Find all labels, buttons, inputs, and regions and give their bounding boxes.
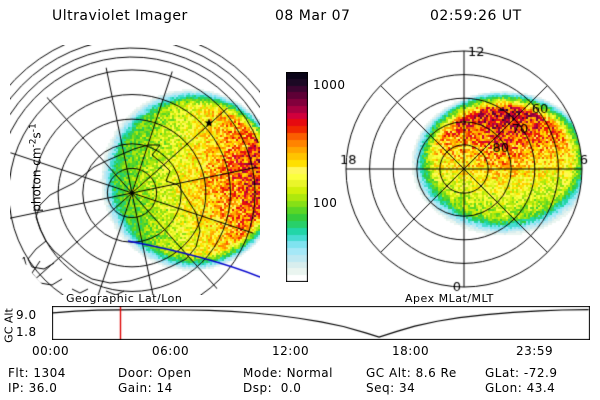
orbit-xtick-3: 18:00	[392, 344, 429, 358]
status-gain: Gain: 14	[118, 381, 173, 395]
orbit-xtick-1: 06:00	[152, 344, 189, 358]
status-glon-label: GLon:	[485, 381, 522, 395]
status-door-value: Open	[158, 366, 192, 380]
colorbar-unit-label: photon cm-2s-1	[29, 113, 44, 223]
colorbar-unit-exponent-1: -2	[29, 138, 39, 147]
status-gcalt-value: 8.6 Re	[416, 366, 457, 380]
status-gain-label: Gain:	[118, 381, 152, 395]
orbit-xtick-2: 12:00	[272, 344, 309, 358]
orbit-xtick-0: 00:00	[32, 344, 69, 358]
status-flt-label: Flt:	[8, 366, 29, 380]
status-mode: Mode: Normal	[243, 366, 333, 380]
status-mode-value: Normal	[287, 366, 333, 380]
colorbar-unit-prefix: photon cm	[30, 147, 44, 211]
colorbar-unit-exponent-2: -1	[29, 123, 39, 132]
status-glat-label: GLat:	[485, 366, 520, 380]
page-title: Ultraviolet Imager	[52, 8, 188, 24]
status-gcalt-label: GC Alt:	[366, 366, 411, 380]
status-mode-label: Mode:	[243, 366, 282, 380]
apex-aurora-plot	[338, 45, 590, 295]
geographic-aurora-plot	[10, 45, 260, 295]
status-ip: IP: 36.0	[8, 381, 57, 395]
status-glat: GLat: -72.9	[485, 366, 557, 380]
ultraviolet-imager-display: Ultraviolet Imager 08 Mar 07 02:59:26 UT…	[0, 0, 600, 400]
orbit-xtick-4: 23:59	[516, 344, 553, 358]
colorbar-tick-100: 100	[313, 196, 337, 210]
status-ip-label: IP:	[8, 381, 24, 395]
observation-date: 08 Mar 07	[275, 8, 350, 24]
orbit-altitude-plot	[52, 306, 590, 340]
status-flt-value: 1304	[33, 366, 66, 380]
status-flt: Flt: 1304	[8, 366, 66, 380]
status-seq: Seq: 34	[366, 381, 415, 395]
observation-time: 02:59:26 UT	[430, 8, 522, 24]
status-door-label: Door:	[118, 366, 153, 380]
orbit-y-axis-label: GC Alt	[3, 303, 16, 349]
status-dsp-label: Dsp:	[243, 381, 272, 395]
orbit-ytick-low: 1.8	[16, 325, 37, 339]
apex-plot-caption: Apex MLat/MLT	[405, 292, 494, 305]
status-glon-value: 43.4	[527, 381, 556, 395]
colorbar-unit-mid: s	[30, 132, 44, 138]
status-seq-label: Seq:	[366, 381, 395, 395]
orbit-ytick-high: 9.0	[16, 308, 37, 322]
status-dsp: Dsp: 0.0	[243, 381, 301, 395]
status-gain-value: 14	[156, 381, 172, 395]
status-dsp-value: 0.0	[281, 381, 302, 395]
status-ip-value: 36.0	[29, 381, 58, 395]
status-glon: GLon: 43.4	[485, 381, 555, 395]
status-glat-value: -72.9	[524, 366, 558, 380]
geographic-plot-caption: Geographic Lat/Lon	[66, 292, 182, 305]
status-door: Door: Open	[118, 366, 192, 380]
intensity-colorbar	[286, 72, 308, 282]
status-seq-value: 34	[399, 381, 415, 395]
status-gcalt: GC Alt: 8.6 Re	[366, 366, 457, 380]
